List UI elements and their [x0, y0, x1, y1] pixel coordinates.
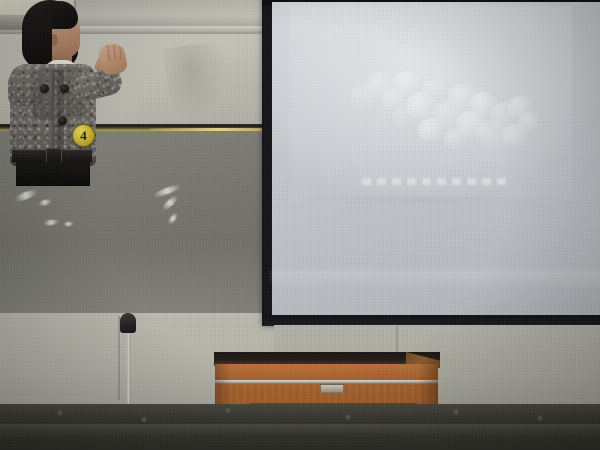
jacket-button [40, 84, 49, 93]
slide-blossom-shape [518, 112, 540, 132]
microphone-stand-pole [127, 325, 130, 409]
whiteboard-sheen [0, 240, 274, 318]
photograph-scene: 4 [0, 0, 600, 450]
slide-blossom-shape [444, 128, 468, 150]
lectern-upper-band [215, 364, 438, 380]
participant-badge: 4 [72, 124, 95, 147]
lectern-nameplate [320, 384, 344, 393]
jacket-button [60, 84, 69, 93]
slide-blossom-shape [418, 118, 444, 142]
microphone-icon [120, 313, 136, 333]
screen-light-wash [272, 270, 600, 290]
projected-slide-caption [362, 178, 512, 185]
floor-sheen [0, 424, 600, 436]
slide-blossom-shape [392, 106, 414, 128]
presenter-skirt [16, 162, 90, 186]
jacket-button [58, 116, 67, 125]
presenter-hair-side [24, 16, 52, 68]
baseboard [0, 404, 600, 426]
projected-slide-edge [290, 198, 572, 202]
projected-slide-artwork [348, 66, 544, 176]
whiteboard-smudge [162, 40, 235, 127]
slide-blossom-shape [422, 78, 448, 102]
